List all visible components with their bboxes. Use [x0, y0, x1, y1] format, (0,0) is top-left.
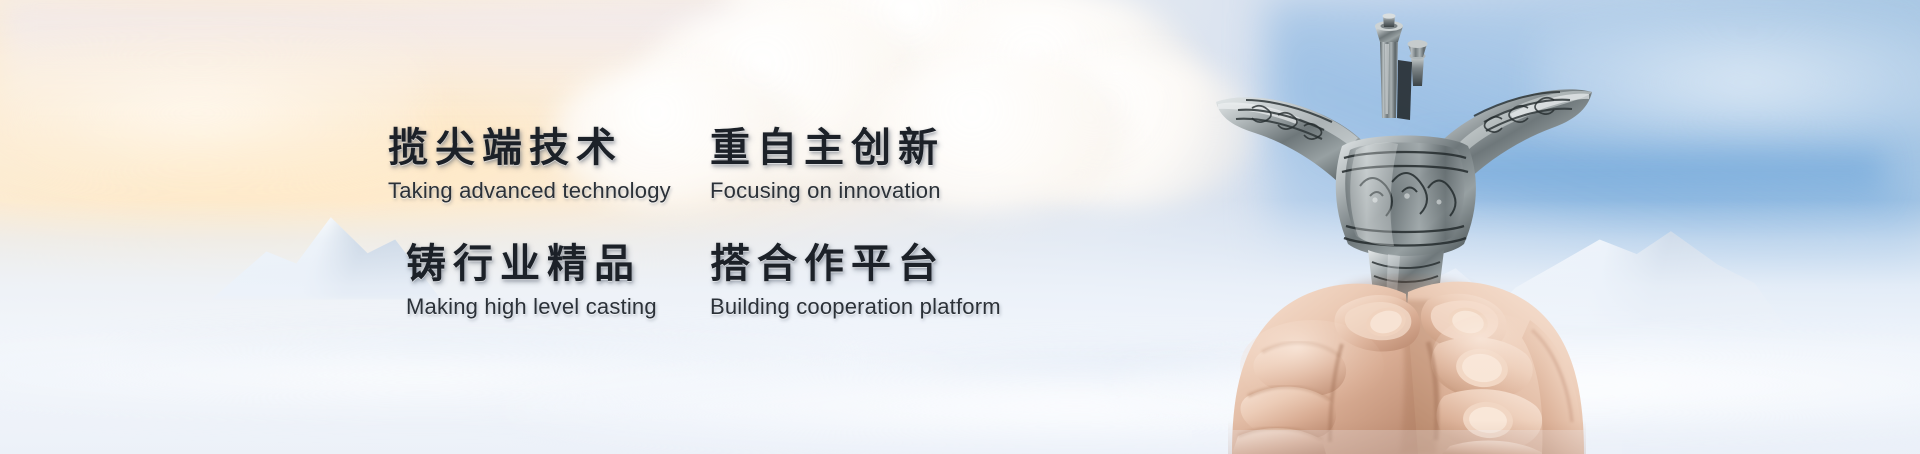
hero-banner: 揽尖端技术 Taking advanced technology 重自主创新 F…	[0, 0, 1920, 454]
slogan-en-3: Making high level casting	[406, 294, 688, 320]
slogan-grid: 揽尖端技术 Taking advanced technology 重自主创新 F…	[388, 126, 988, 320]
slogan-advanced-technology: 揽尖端技术 Taking advanced technology	[388, 126, 688, 204]
slogan-high-level-casting: 铸行业精品 Making high level casting	[388, 242, 688, 320]
slogan-cooperation-platform: 搭合作平台 Building cooperation platform	[688, 242, 988, 320]
slogan-innovation: 重自主创新 Focusing on innovation	[688, 126, 988, 204]
slogan-cn-2: 重自主创新	[710, 126, 988, 171]
slogan-en-4: Building cooperation platform	[710, 294, 988, 320]
hands-holding-vessel	[1192, 0, 1622, 454]
slogan-cn-1: 揽尖端技术	[388, 126, 688, 171]
slogan-en-1: Taking advanced technology	[388, 178, 688, 204]
bronze-vessel-icon	[1216, 13, 1592, 309]
cloud-wisp-left	[0, 36, 422, 190]
clasped-hands-icon	[1228, 278, 1586, 454]
slogan-cn-3: 铸行业精品	[406, 242, 688, 287]
slogan-en-2: Focusing on innovation	[710, 178, 988, 204]
slogan-cn-4: 搭合作平台	[710, 242, 988, 287]
